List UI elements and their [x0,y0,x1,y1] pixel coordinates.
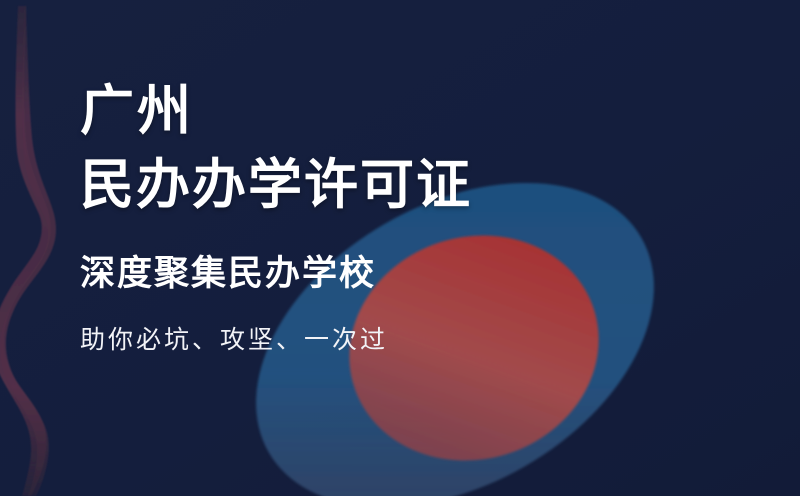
promo-banner: 广州 民办办学许可证 深度聚集民办学校 助你必坑、攻坚、一次过 [0,0,800,496]
background-decoration [0,0,800,496]
